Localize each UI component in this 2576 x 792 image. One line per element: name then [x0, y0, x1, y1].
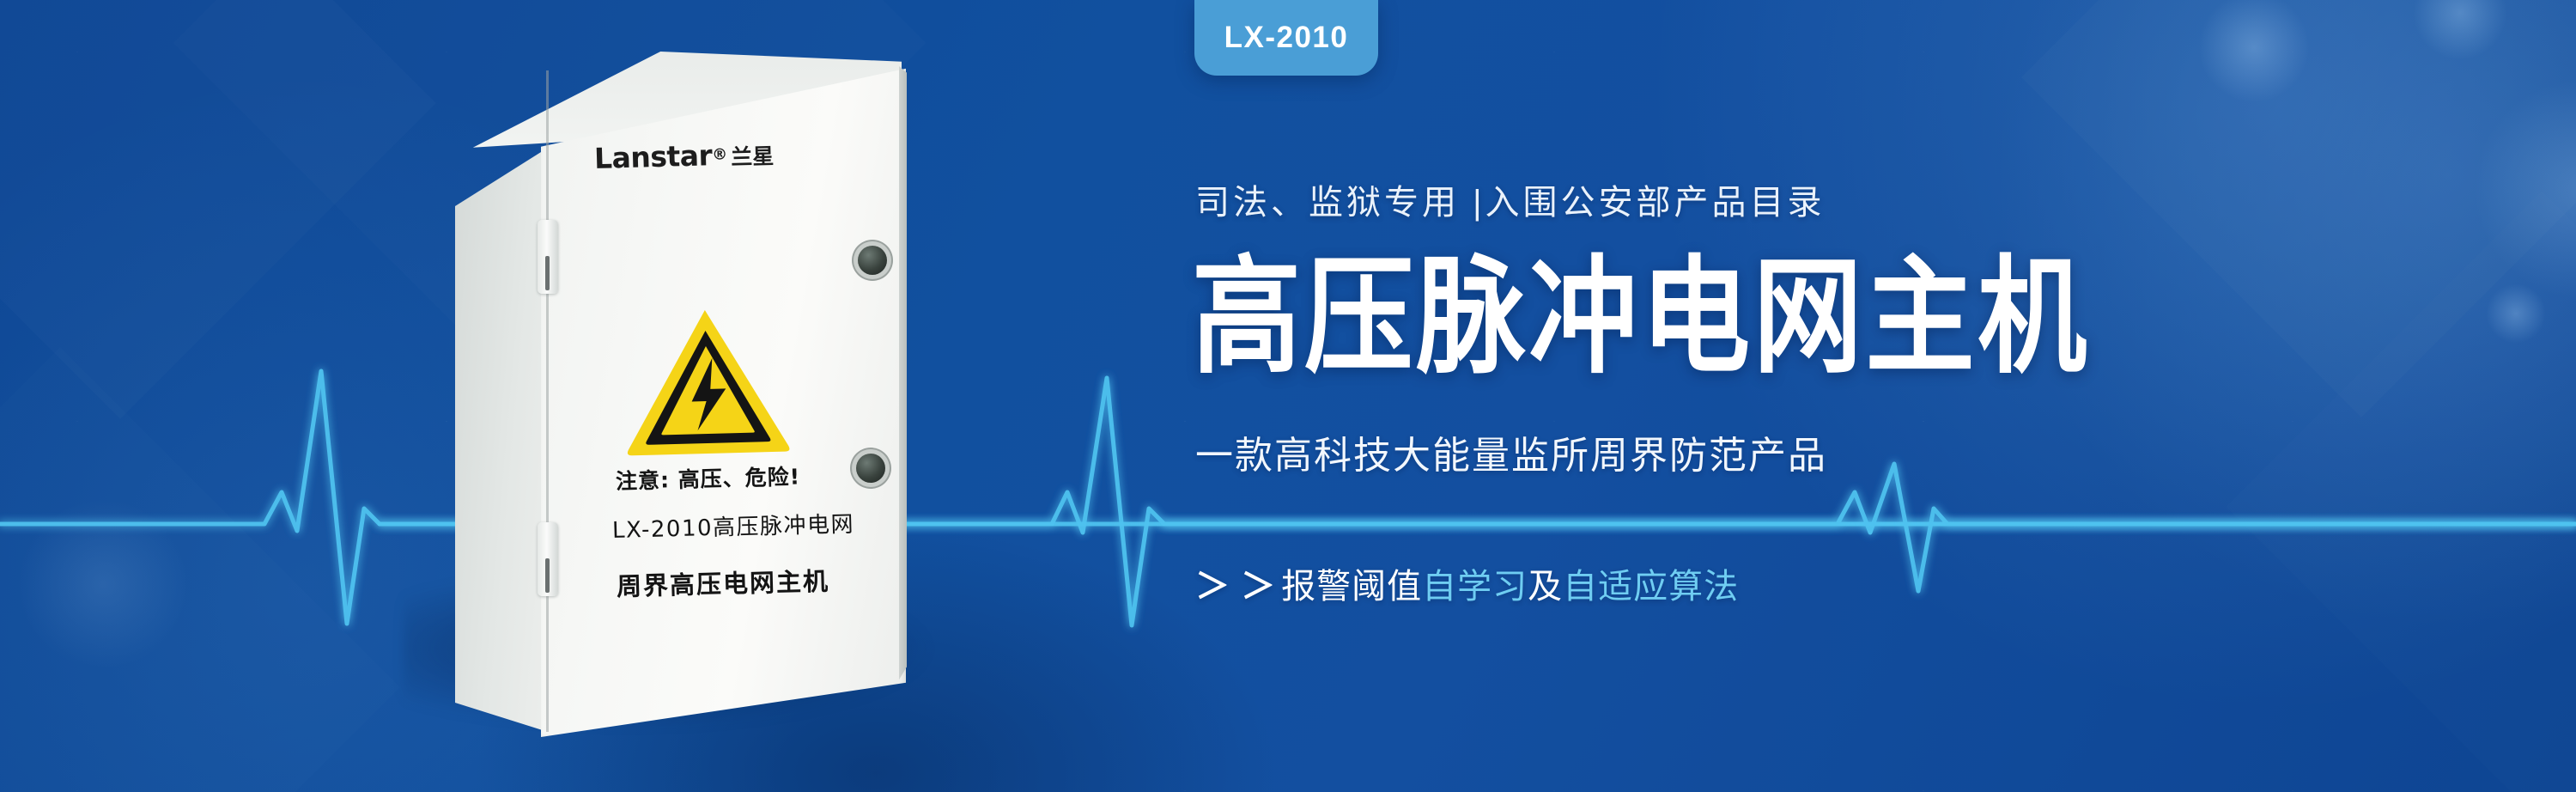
bullet-text-highlight-2: 自适应算法	[1563, 568, 1739, 606]
high-voltage-warning-icon	[623, 303, 792, 458]
banner-tagline: 一款高科技大能量监所周界防范产品	[1195, 424, 1827, 479]
product-image: Lanstar®兰星 注意: 高压、危险! LX-2010高压脉冲电网 周界高压…	[369, 52, 987, 739]
cabinet-hinge	[538, 522, 558, 596]
banner-eyebrow: 司法、监狱专用 |入围公安部产品目录	[1195, 174, 1826, 224]
cabinet-right-edge	[899, 66, 907, 719]
product-hero-banner: Lanstar®兰星 注意: 高压、危险! LX-2010高压脉冲电网 周界高压…	[0, 0, 2576, 792]
indicator-lamp	[856, 454, 885, 483]
bullet-text-part1: 报警阈值	[1281, 568, 1422, 606]
indicator-lamp	[858, 246, 887, 275]
brand-name-en: Lanstar	[593, 138, 712, 175]
cabinet-door-seam	[546, 70, 549, 732]
brand-name-cn: 兰星	[731, 143, 775, 169]
bullet-text-part3: 及	[1528, 568, 1563, 606]
cabinet-side-panel	[455, 148, 548, 732]
banner-headline: 高压脉冲电网主机	[1192, 253, 2090, 381]
door-label-warning: 注意: 高压、危险!	[616, 460, 801, 496]
product-brand-logo: Lanstar®兰星	[593, 137, 774, 175]
decorative-diamond	[0, 347, 400, 792]
bokeh-light	[17, 498, 189, 670]
door-label-name: 周界高压电网主机	[616, 562, 829, 603]
bokeh-light	[2473, 77, 2576, 301]
hinge-pin	[545, 256, 550, 290]
chevron-right-icon: ＞ ＞	[1195, 568, 1276, 606]
registered-trademark-icon: ®	[712, 145, 728, 163]
door-label-model: LX-2010高压脉冲电网	[612, 507, 855, 545]
banner-feature-bullet: ＞ ＞报警阈值自学习及自适应算法	[1195, 558, 1739, 608]
cabinet-hinge	[538, 220, 558, 294]
banner-text-column: 司法、监狱专用 |入围公安部产品目录 高压脉冲电网主机 一款高科技大能量监所周界…	[1195, 0, 2466, 792]
bullet-text-highlight-1: 自学习	[1422, 568, 1528, 606]
hinge-pin	[545, 558, 550, 593]
bokeh-light	[2486, 283, 2546, 344]
